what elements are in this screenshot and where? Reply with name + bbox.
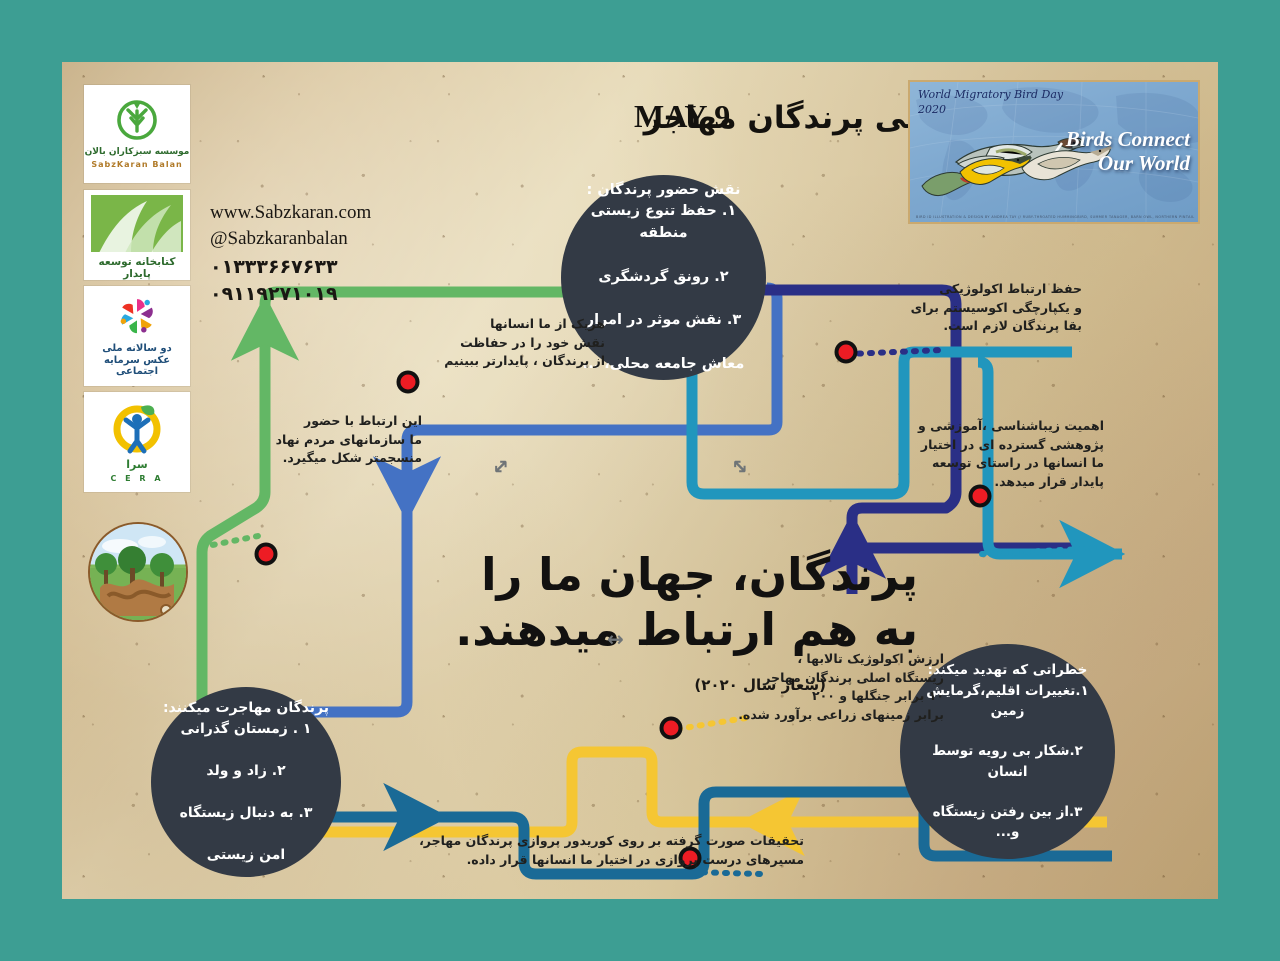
circle-line: ۲.شکار بی رویه توسط انسان [910, 741, 1105, 782]
circle-why-birds-migrate-text: پرندگان مهاجرت میکنند: ۱ . زمستان گذرانی… [153, 698, 339, 866]
website-link[interactable]: www.Sabzkaran.com [210, 200, 371, 226]
logo-sabzkaran-balan: موسسه سبزکاران بالان SabzKaran Balan [84, 85, 190, 183]
logo-sustainable-development-library: کتابخانه توسعه پایدار [84, 190, 190, 280]
note-ecological-connectivity: حفظ ارتباط اکولوژیکی و یکپارچگی اکوسیستم… [852, 280, 1082, 336]
logo-jangalban [90, 524, 186, 620]
banner-headline-line1: Birds Connect [1066, 128, 1190, 152]
note-line: هریک از ما انسانها [415, 315, 605, 334]
connector-dash-ecological [848, 350, 942, 354]
contact-block: www.Sabzkaran.com @Sabzkaranbalan ۰۱۳۳۳۶… [210, 200, 371, 307]
circle-why-birds-migrate: پرندگان مهاجرت میکنند: ۱ . زمستان گذرانی… [151, 687, 341, 877]
note-line: پایدار قرار میدهد. [852, 473, 1104, 492]
logo-caption-fa: سرا [126, 459, 147, 472]
circle-line: امن زیستی [163, 845, 329, 866]
note-line: برابر زمینهای زراعی برآورد شده. [682, 706, 944, 725]
sabzkaran-leaf-icon [111, 99, 163, 145]
circle-line: ۱. حفظ تنوع زیستی منطقه [571, 201, 756, 245]
phone-number-1: ۰۱۳۳۳۶۶۷۶۳۳ [210, 254, 371, 280]
banner-script-text: World Migratory Bird Day 2020 [918, 88, 1063, 118]
poster-canvas: موسسه سبزکاران بالان SabzKaran Balan کتا… [62, 62, 1218, 899]
logo-caption-en: C E R A [110, 474, 163, 483]
station-dot [399, 373, 418, 392]
note-line: پژوهشی گسترده ای در اختیار [852, 436, 1104, 455]
phone-number-2: ۰۹۱۱۹۲۷۱۰۱۹ [210, 281, 371, 307]
library-leaf-art [91, 195, 183, 252]
circle-line: پرندگان مهاجرت میکنند: [163, 700, 329, 716]
note-ngo-connection: این ارتباط با حضور ما سازمانهای مردم نها… [217, 412, 422, 468]
jangalban-forest-icon [90, 524, 186, 620]
note-line: ما انسانها در راستای توسعه [852, 454, 1104, 473]
station-dot [837, 343, 856, 362]
slogan-line1: پرندگان، جهان ما را [448, 548, 918, 603]
logo-caption-fa: موسسه سبزکاران بالان [85, 147, 190, 157]
station-dot [662, 719, 681, 738]
circle-line: خطراتی که تهدید میکند: [928, 662, 1088, 678]
note-line: ما سازمانهای مردم نهاد [217, 431, 422, 450]
note-aesthetic-educational-research: اهمیت زیباشناسی ،آموزشی و پژوهشی گسترده … [852, 417, 1104, 491]
main-slogan: پرندگان، جهان ما را به هم ارتباط میدهند. [448, 548, 918, 658]
circle-line: ۱ . زمستان گذرانی [163, 719, 329, 740]
note-line: و یکپارچگی اکوسیستم برای [852, 299, 1082, 318]
note-line: مسیرهای درست پروازی در اختیار ما انسانها… [334, 851, 804, 870]
note-line: بقا پرندگان لازم است. [852, 317, 1082, 336]
slogan-note: (شعار سال ۲۰۲۰) [694, 676, 826, 694]
horizontal-arrows-icon: ↔ [607, 627, 624, 651]
photo-biennial-pinwheel-icon [111, 294, 163, 340]
logo-cera: سرا C E R A [84, 392, 190, 492]
logo-caption-fa: دو سالانه ملی عکس سرمایه اجتماعی [84, 343, 190, 378]
note-flyway-research: تحقیقات صورت گرفته بر روی کوریدور پروازی… [334, 832, 804, 869]
logo-photo-biennial: دو سالانه ملی عکس سرمایه اجتماعی [84, 286, 190, 386]
note-line: حفظ ارتباط اکولوژیکی [852, 280, 1082, 299]
note-line: از پرندگان ، پایدارتر ببینیم [415, 352, 605, 371]
slogan-line2: به هم ارتباط میدهند. [448, 603, 918, 658]
logo-caption-en: SabzKaran Balan [91, 160, 182, 169]
note-line: این ارتباط با حضور [217, 412, 422, 431]
wmbd-banner: World Migratory Bird Day 2020 [908, 80, 1200, 224]
logo-caption-fa: کتابخانه توسعه پایدار [84, 256, 190, 280]
note-each-of-us: هریک از ما انسانها نقش خود را در حفاظت ا… [415, 315, 605, 371]
connector-dash-flyway [692, 872, 762, 874]
note-line: تحقیقات صورت گرفته بر روی کوریدور پروازی… [334, 832, 804, 851]
circle-line: ۲. رونق گردشگری [571, 267, 756, 289]
circle-line: نقش حضور پرندگان : [586, 182, 740, 198]
note-line: اهمیت زیباشناسی ،آموزشی و [852, 417, 1104, 436]
station-dot [257, 545, 276, 564]
banner-headline: Birds Connect Our World [1066, 128, 1190, 175]
circle-line: ۳. به دنبال زیستگاه [163, 803, 329, 824]
banner-credit: BIRD ID ILLUSTRATION & DESIGN BY ANDREA … [916, 215, 1194, 219]
circle-line: ۳.از بین رفتن زیستگاه و... [910, 802, 1105, 843]
banner-script-line1: World Migratory Bird Day [918, 88, 1063, 103]
note-line: نقش خود را در حفاظت [415, 334, 605, 353]
social-handle[interactable]: @Sabzkaranbalan [210, 226, 371, 252]
banner-headline-line2: Our World [1066, 152, 1190, 176]
note-line: منسجمتر شکل میگیرد. [217, 449, 422, 468]
circle-line: ۲. زاد و ولد [163, 761, 329, 782]
cera-person-icon [108, 401, 166, 457]
date-label: MAY 9 [634, 98, 730, 135]
